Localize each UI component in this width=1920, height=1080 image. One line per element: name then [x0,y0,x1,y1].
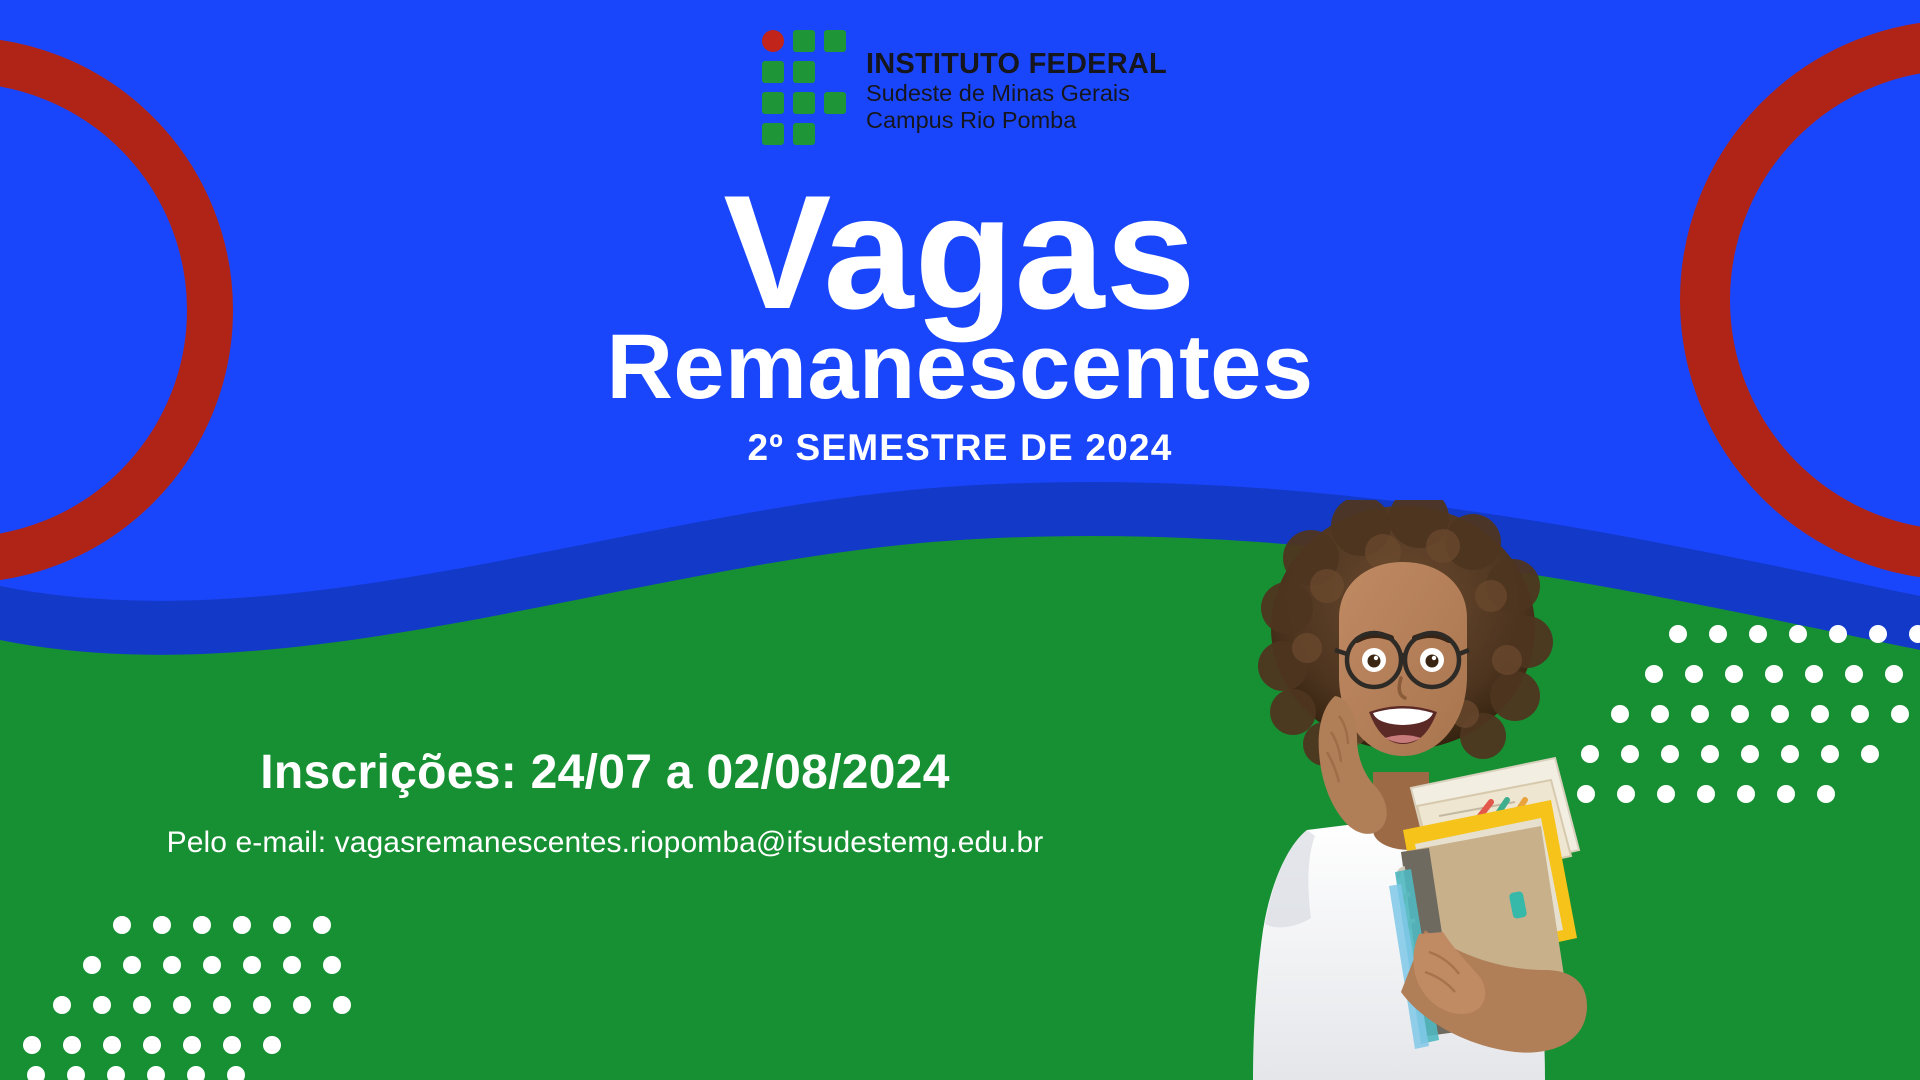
logo-campus-name: Campus Rio Pomba [866,109,1167,133]
instituto-federal-logo: INSTITUTO FEDERAL Sudeste de Minas Gerai… [762,30,1167,148]
logo-square [824,92,846,114]
page-subtitle: Remanescentes [0,321,1920,413]
student-photo [1215,500,1635,1080]
logo-square [762,61,784,83]
logo-wordmark: INSTITUTO FEDERAL Sudeste de Minas Gerai… [866,30,1167,132]
logo-square [793,123,815,145]
logo-region-name: Sudeste de Minas Gerais [866,82,1167,106]
registration-details: Inscrições: 24/07 a 02/08/2024 Pelo e-ma… [0,745,1210,860]
logo-square [762,92,784,114]
contact-email-line: Pelo e-mail: vagasremanescentes.riopomba… [0,826,1210,860]
logo-square [762,123,784,145]
logo-red-dot [762,30,784,52]
if-logo-mark [762,30,852,148]
logo-square [793,30,815,52]
registration-dates: Inscrições: 24/07 a 02/08/2024 [0,745,1210,800]
semester-label: 2º SEMESTRE DE 2024 [0,427,1920,469]
logo-square [824,30,846,52]
logo-institution-name: INSTITUTO FEDERAL [866,50,1167,79]
promotional-banner: INSTITUTO FEDERAL Sudeste de Minas Gerai… [0,0,1920,1080]
page-title: Vagas [0,178,1920,329]
logo-square [793,61,815,83]
headline-block: Vagas Remanescentes 2º SEMESTRE DE 2024 [0,178,1920,469]
logo-square [793,92,815,114]
